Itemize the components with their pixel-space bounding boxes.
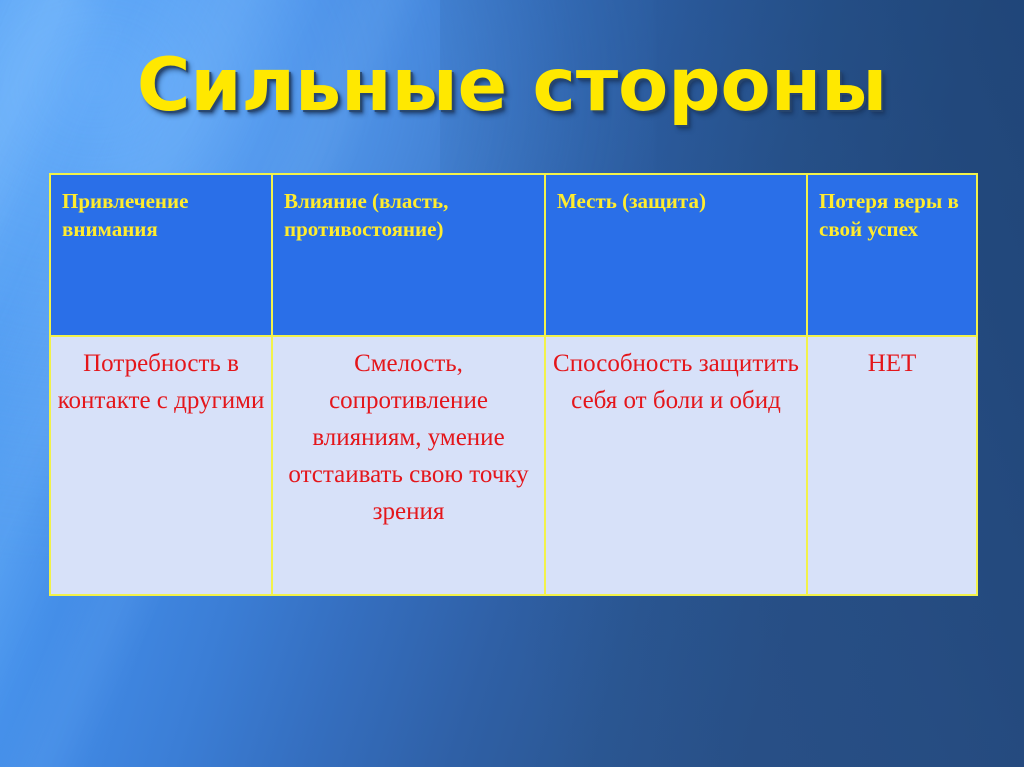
table-cell-attention-strength: Потребность в контакте с другими — [50, 336, 272, 595]
table-header-cell-attention: Привлечение внимания — [50, 174, 272, 336]
table-header-row: Привлечение внимания Влияние (власть, пр… — [50, 174, 977, 336]
table-header: Привлечение внимания Влияние (власть, пр… — [50, 174, 977, 336]
slide-title: Сильные стороны — [0, 46, 1024, 126]
strengths-table-container: Привлечение внимания Влияние (власть, пр… — [49, 173, 976, 596]
table-cell-loss-of-faith-strength: НЕТ — [807, 336, 977, 595]
table-body: Потребность в контакте с другими Смелост… — [50, 336, 977, 595]
table-cell-revenge-strength: Способность защитить себя от боли и обид — [545, 336, 807, 595]
table-cell-influence-strength: Смелость, сопротивление влияниям, умение… — [272, 336, 545, 595]
table-header-cell-revenge: Месть (защита) — [545, 174, 807, 336]
table-row: Потребность в контакте с другими Смелост… — [50, 336, 977, 595]
strengths-table: Привлечение внимания Влияние (власть, пр… — [49, 173, 978, 596]
table-header-cell-influence: Влияние (власть, противостояние) — [272, 174, 545, 336]
slide: Сильные стороны Привлечение внимания Вли… — [0, 0, 1024, 767]
table-header-cell-loss-of-faith: Потеря веры в свой успех — [807, 174, 977, 336]
